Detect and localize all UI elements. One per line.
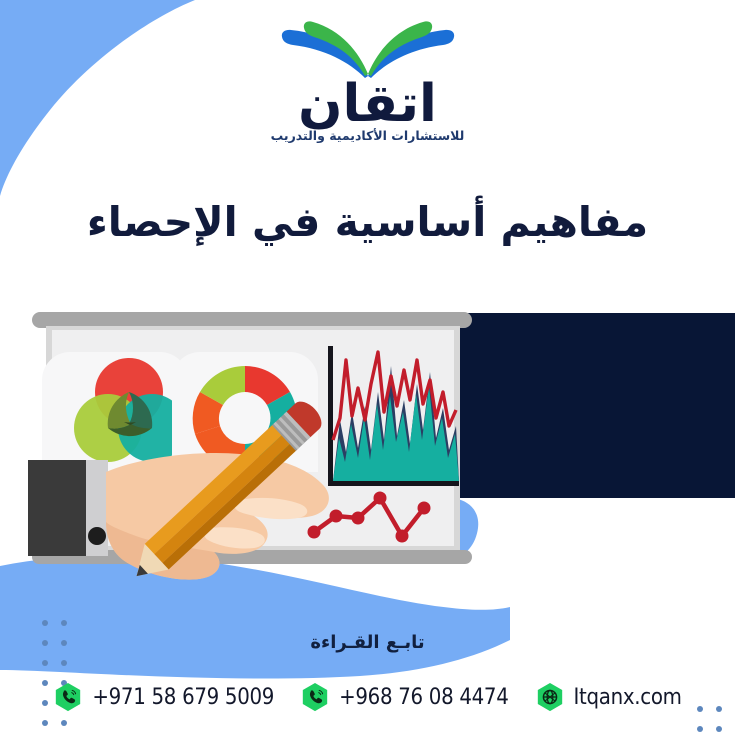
contact-bar: +971 58 679 5009 +968 76 08 4474 Itqanx.… <box>0 682 735 712</box>
logo-tagline: للاستشارات الأكاديمية والتدريب <box>271 128 465 143</box>
open-book-wings-icon <box>273 18 463 80</box>
brand-logo: اتقان للاستشارات الأكاديمية والتدريب <box>0 18 735 143</box>
statistics-illustration <box>28 300 480 612</box>
follow-label: تابـع القـراءة <box>0 632 735 653</box>
board-top-rail <box>32 312 472 328</box>
contact-phone-1-label: +971 58 679 5009 <box>92 685 274 710</box>
contact-website[interactable]: Itqanx.com <box>535 682 682 712</box>
page-title: مفاهيم أساسية في الإحصاء <box>0 196 735 248</box>
globe-icon <box>535 682 565 712</box>
poster-canvas: اتقان للاستشارات الأكاديمية والتدريب مفا… <box>0 0 735 735</box>
navy-accent-block <box>455 313 735 498</box>
contact-phone-2[interactable]: +968 76 08 4474 <box>300 682 508 712</box>
contact-website-label: Itqanx.com <box>574 685 682 710</box>
phone-icon <box>300 682 330 712</box>
contact-phone-1[interactable]: +971 58 679 5009 <box>53 682 274 712</box>
contact-phone-2-label: +968 76 08 4474 <box>339 685 508 710</box>
logo-wordmark: اتقان <box>298 76 437 132</box>
cufflink-button <box>88 527 106 545</box>
phone-icon <box>53 682 83 712</box>
